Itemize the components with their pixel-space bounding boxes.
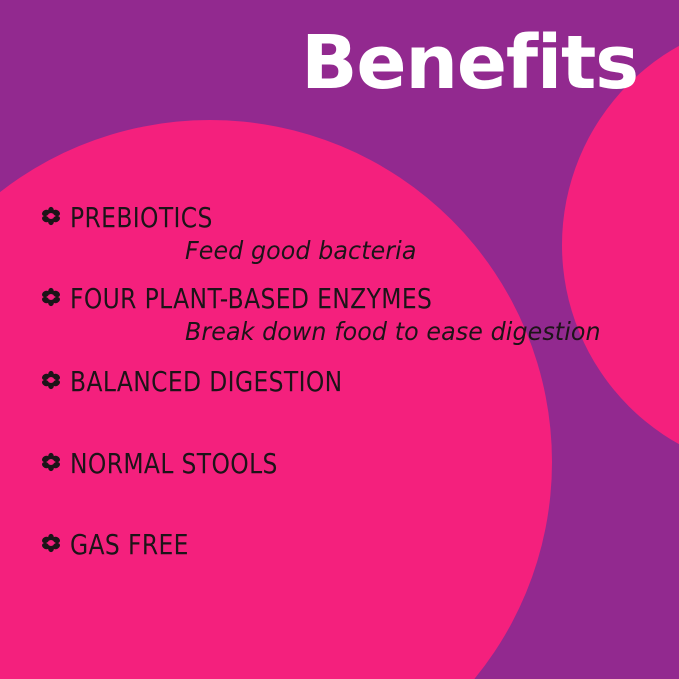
list-item: NORMAL STOOLS <box>41 449 661 478</box>
benefit-row: NORMAL STOOLS <box>41 449 661 478</box>
flower-asterisk-icon <box>41 287 61 313</box>
list-item: PREBIOTICS Feed good bacteria <box>41 203 661 265</box>
benefit-label: BALANCED DIGESTION <box>70 367 343 396</box>
benefit-row: FOUR PLANT-BASED ENZYMES <box>41 284 661 313</box>
benefit-row: PREBIOTICS <box>41 203 661 232</box>
benefit-label: NORMAL STOOLS <box>70 449 278 478</box>
benefit-label: GAS FREE <box>70 530 189 559</box>
benefit-subtext: Break down food to ease digestion <box>185 318 637 346</box>
list-item: GAS FREE <box>41 530 661 559</box>
benefit-row: BALANCED DIGESTION <box>41 367 661 396</box>
benefits-poster: Benefits <box>0 0 679 679</box>
flower-asterisk-icon <box>41 533 61 559</box>
flower-asterisk-icon <box>41 206 61 232</box>
list-item: BALANCED DIGESTION <box>41 367 661 396</box>
flower-asterisk-icon <box>41 452 61 478</box>
benefits-list: PREBIOTICS Feed good bacteria <box>0 0 679 679</box>
benefit-row: GAS FREE <box>41 530 661 559</box>
benefit-label: PREBIOTICS <box>70 203 213 232</box>
flower-asterisk-icon <box>41 370 61 396</box>
benefit-label: FOUR PLANT-BASED ENZYMES <box>70 284 432 313</box>
list-item: FOUR PLANT-BASED ENZYMES Break down food… <box>41 284 661 346</box>
benefit-subtext: Feed good bacteria <box>185 237 637 265</box>
